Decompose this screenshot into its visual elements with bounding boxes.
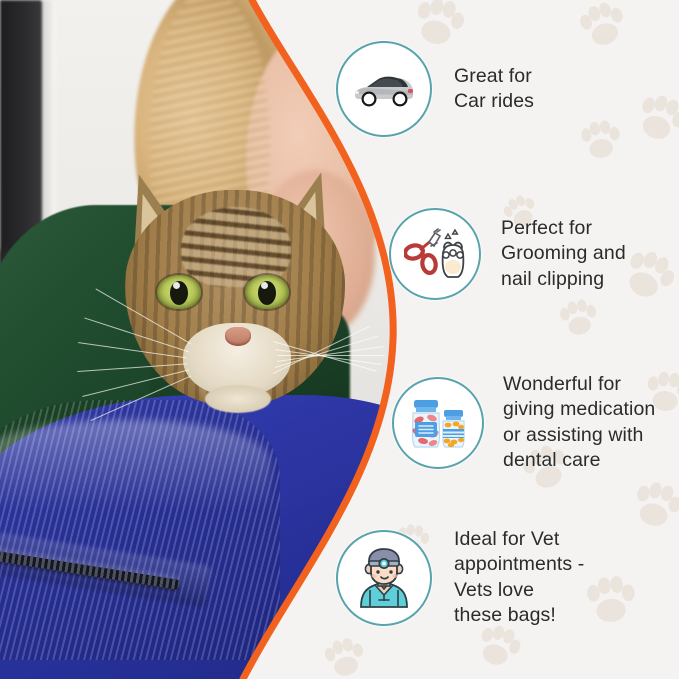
car-icon — [351, 69, 417, 109]
product-feature-graphic: Great for Car rides — [0, 0, 679, 679]
cat-eye-glint-right — [261, 282, 268, 289]
feature-item-grooming[interactable]: Perfect for Grooming and nail clipping — [389, 208, 626, 300]
feature-item-vet[interactable]: Ideal for Vet appointments - Vets love t… — [336, 527, 584, 628]
feature-icon-bubble — [336, 530, 432, 626]
nail-clippers-paw-icon — [404, 226, 466, 282]
feature-icon-bubble — [389, 208, 481, 300]
cat-forehead-markings — [181, 207, 291, 287]
feature-item-medication[interactable]: Wonderful for giving medication or assis… — [392, 372, 655, 473]
cat-whiskers — [95, 325, 375, 445]
feature-label: Ideal for Vet appointments - Vets love t… — [454, 527, 584, 628]
veterinarian-icon — [353, 548, 415, 608]
cat-eye-left — [157, 275, 201, 309]
medicine-bottles-icon — [406, 394, 470, 452]
feature-label: Wonderful for giving medication or assis… — [503, 372, 655, 473]
cat-eye-right — [245, 275, 289, 309]
tabby-cat — [95, 155, 375, 485]
feature-icon-bubble — [392, 377, 484, 469]
feature-label: Great for Car rides — [454, 64, 534, 115]
cat-eye-glint-left — [173, 282, 180, 289]
feature-icon-bubble — [336, 41, 432, 137]
feature-item-car-rides[interactable]: Great for Car rides — [336, 41, 534, 137]
feature-label: Perfect for Grooming and nail clipping — [501, 216, 626, 292]
